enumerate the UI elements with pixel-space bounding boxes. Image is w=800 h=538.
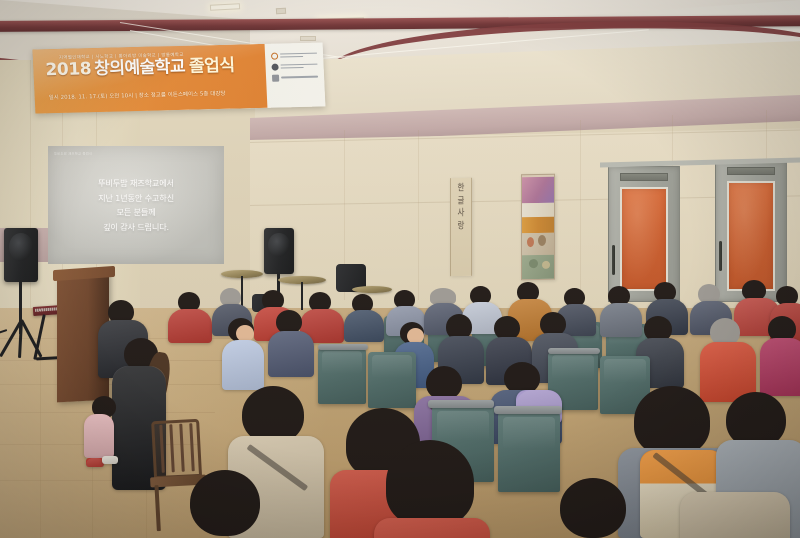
auditorium-seat[interactable]	[498, 412, 560, 492]
auditorium-seat[interactable]	[368, 352, 416, 408]
art-motif	[529, 259, 538, 268]
seat-armrest	[494, 406, 562, 414]
torso	[268, 331, 314, 377]
projection-screen: 뚜비두밥 재즈학교 졸업식 뚜비두밥 재즈학교에서 지난 1년동안 수고하신 모…	[48, 146, 224, 264]
drum-cymbal-ride	[352, 286, 392, 293]
door-panel	[620, 187, 668, 291]
seat-armrest	[428, 400, 494, 408]
calligraphy-char: 글	[458, 196, 465, 205]
chair-leg	[154, 485, 160, 531]
torso	[222, 340, 264, 390]
pa-speaker-left	[4, 228, 38, 282]
calligraphy-char: 랑	[458, 221, 465, 230]
auditorium-seat[interactable]	[318, 348, 366, 404]
art-motif	[538, 235, 546, 246]
torso	[760, 338, 800, 396]
art-band	[522, 177, 554, 203]
art-band	[522, 203, 554, 217]
shoe	[102, 456, 118, 464]
torso	[680, 492, 790, 538]
auditorium-door-left[interactable]	[608, 166, 680, 302]
head	[560, 478, 626, 538]
ceiling-vent	[276, 8, 286, 15]
art-band	[522, 217, 554, 233]
slide-line-1: 뚜비두밥 재즈학교에서	[48, 176, 224, 191]
door-panel	[727, 181, 775, 291]
event-banner: 지역별인재학교 | 사노학교 | 통아리방 미술학교 | 방통예학교 2018창…	[33, 42, 326, 113]
slide-line-4: 깊이 감사 드립니다.	[48, 220, 224, 235]
cymbal-stand-rod	[241, 276, 243, 308]
photograph-scene: 지역별인재학교 | 사노학교 | 통아리방 미술학교 | 방통예학교 2018창…	[0, 0, 800, 538]
slide-header: 뚜비두밥 재즈학교 졸업식	[54, 151, 218, 155]
calligraphy-scroll: 한 글 사 랑	[450, 178, 472, 276]
torso	[84, 414, 114, 458]
head	[386, 440, 474, 526]
torso	[344, 310, 384, 342]
art-motif	[527, 237, 534, 247]
head	[634, 386, 710, 456]
wall-seam	[580, 120, 581, 290]
calligraphy-char: 사	[458, 208, 465, 217]
banner-sheen	[33, 42, 326, 113]
pa-speaker-right	[264, 228, 294, 274]
ceiling-light	[210, 3, 240, 11]
torso	[374, 518, 490, 538]
head	[190, 470, 260, 536]
slide-text: 뚜비두밥 재즈학교에서 지난 1년동안 수고하신 모든 분들께 깊이 감사 드립…	[48, 176, 224, 234]
door-transom	[620, 173, 668, 181]
torso	[600, 303, 642, 337]
wall-seam	[418, 130, 419, 300]
door-handle[interactable]	[719, 241, 722, 271]
door-handle[interactable]	[612, 245, 615, 275]
calligraphy-char: 한	[458, 183, 465, 192]
head	[426, 366, 462, 400]
art-motif	[542, 261, 550, 269]
cymbal-stand-rod	[301, 282, 303, 310]
fabric-wall-hanging	[521, 174, 555, 280]
seat-armrest	[318, 344, 368, 350]
slide-line-3: 모든 분들께	[48, 205, 224, 220]
slide-line-2: 지난 1년동안 수고하신	[48, 191, 224, 206]
door-transom	[727, 167, 775, 175]
seat-armrest	[548, 348, 600, 354]
torso	[168, 309, 212, 343]
